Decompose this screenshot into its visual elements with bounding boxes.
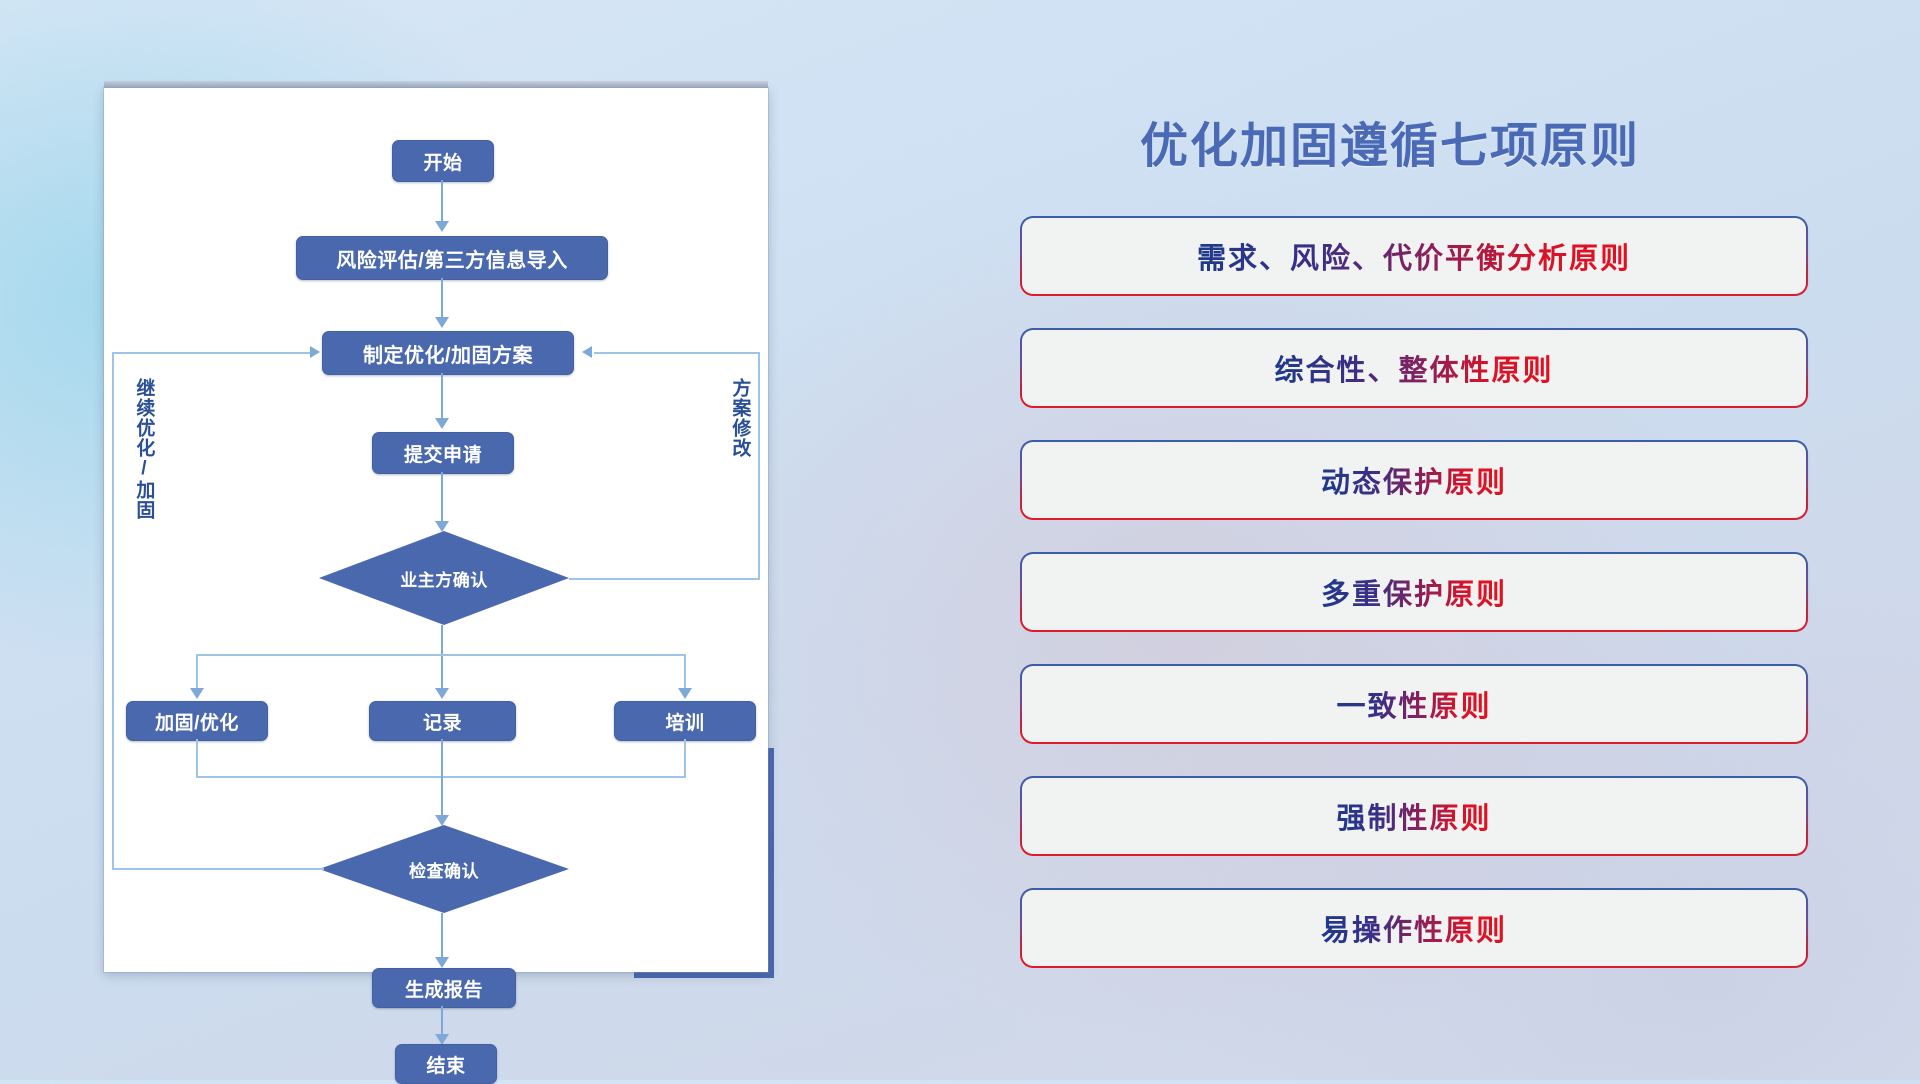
- connector-submit-owner: [441, 472, 443, 524]
- arrow-down-icon: [435, 957, 449, 968]
- connector-check-report: [441, 913, 443, 961]
- arrow-down-icon: [435, 815, 449, 826]
- right-loop-vertical: [758, 352, 760, 580]
- arrow-down-icon: [435, 688, 449, 699]
- principle-label: 易操作性原则: [1321, 907, 1507, 949]
- flow-node-label: 检查确认: [409, 857, 479, 882]
- principle-item-5[interactable]: 一致性原则: [1020, 664, 1808, 744]
- connector-plan-submit: [441, 373, 443, 421]
- principle-item-surface: 动态保护原则: [1022, 442, 1806, 518]
- flow-node-end[interactable]: 结束: [395, 1044, 497, 1084]
- left-loop-vertical: [112, 352, 114, 870]
- principle-item-3[interactable]: 动态保护原则: [1020, 440, 1808, 520]
- merge-left-rise: [196, 739, 198, 777]
- principle-item-surface: 一致性原则: [1022, 666, 1806, 742]
- arrow-down-icon: [678, 688, 692, 699]
- flow-node-training[interactable]: 培训: [614, 701, 756, 741]
- connector-start-risk: [441, 180, 443, 224]
- principle-item-1[interactable]: 需求、风险、代价平衡分析原则: [1020, 216, 1808, 296]
- flow-node-plan[interactable]: 制定优化/加固方案: [322, 331, 574, 375]
- left-loop-bottom: [112, 868, 324, 870]
- flowchart-card: 开始 风险评估/第三方信息导入 制定优化/加固方案 提交申请 业主方确认: [104, 88, 768, 972]
- flow-node-label: 提交申请: [404, 440, 482, 467]
- flow-node-label: 制定优化/加固方案: [363, 339, 533, 368]
- arrow-down-icon: [435, 418, 449, 429]
- branch-right-drop: [684, 654, 686, 692]
- flow-node-record[interactable]: 记录: [369, 701, 516, 741]
- principle-item-4[interactable]: 多重保护原则: [1020, 552, 1808, 632]
- flow-node-label: 业主方确认: [400, 566, 488, 591]
- principle-item-surface: 综合性、整体性原则: [1022, 330, 1806, 406]
- flow-node-label: 结束: [426, 1051, 465, 1078]
- edge-label-left-loop: 继续优化/加固: [134, 378, 153, 538]
- arrow-down-icon: [190, 688, 204, 699]
- connector-record-check: [441, 739, 443, 819]
- arrow-down-icon: [435, 521, 449, 532]
- edge-label-right-loop: 方案修改: [730, 378, 749, 488]
- principle-label: 强制性原则: [1336, 795, 1491, 837]
- flow-node-submit[interactable]: 提交申请: [372, 432, 514, 474]
- principles-panel: 优化加固遵循七项原则 需求、风险、代价平衡分析原则 综合性、整体性原则 动态保护…: [1020, 86, 1850, 1036]
- flow-node-reinforce[interactable]: 加固/优化: [126, 701, 268, 741]
- left-loop-top: [112, 352, 312, 354]
- flow-node-start[interactable]: 开始: [392, 140, 494, 182]
- flow-node-label: 记录: [423, 708, 462, 735]
- principle-item-surface: 需求、风险、代价平衡分析原则: [1022, 218, 1806, 294]
- principle-label: 多重保护原则: [1321, 571, 1507, 613]
- principle-label: 综合性、整体性原则: [1274, 347, 1553, 389]
- arrow-left-icon: [582, 346, 592, 358]
- arrow-down-icon: [435, 221, 449, 232]
- right-loop-top: [594, 352, 759, 354]
- flow-node-label: 生成报告: [405, 975, 483, 1002]
- flow-node-label: 培训: [665, 708, 704, 735]
- principle-label: 需求、风险、代价平衡分析原则: [1197, 235, 1631, 277]
- principle-item-surface: 强制性原则: [1022, 778, 1806, 854]
- principle-label: 一致性原则: [1336, 683, 1491, 725]
- flow-node-label: 风险评估/第三方信息导入: [336, 244, 568, 273]
- arrow-down-icon: [435, 317, 449, 328]
- page-title: 优化加固遵循七项原则: [1140, 106, 1640, 176]
- flow-decision-check[interactable]: 检查确认: [319, 825, 569, 913]
- flow-node-report[interactable]: 生成报告: [372, 968, 516, 1008]
- principle-label: 动态保护原则: [1321, 459, 1507, 501]
- principle-item-surface: 易操作性原则: [1022, 890, 1806, 966]
- principle-item-2[interactable]: 综合性、整体性原则: [1020, 328, 1808, 408]
- principle-item-7[interactable]: 易操作性原则: [1020, 888, 1808, 968]
- right-loop-bottom: [569, 578, 759, 580]
- principle-item-surface: 多重保护原则: [1022, 554, 1806, 630]
- connector-risk-plan: [441, 278, 443, 320]
- branch-bus-top: [196, 654, 686, 656]
- branch-left-drop: [196, 654, 198, 692]
- flow-node-label: 加固/优化: [155, 708, 239, 735]
- merge-right-rise: [684, 739, 686, 777]
- flow-node-risk-assessment[interactable]: 风险评估/第三方信息导入: [296, 236, 608, 280]
- connector-owner-down: [441, 625, 443, 695]
- principle-item-6[interactable]: 强制性原则: [1020, 776, 1808, 856]
- arrow-right-icon: [310, 346, 320, 358]
- flowchart-panel: 开始 风险评估/第三方信息导入 制定优化/加固方案 提交申请 业主方确认: [104, 88, 784, 988]
- flow-decision-owner-confirm[interactable]: 业主方确认: [319, 531, 569, 625]
- flow-node-label: 开始: [423, 148, 462, 175]
